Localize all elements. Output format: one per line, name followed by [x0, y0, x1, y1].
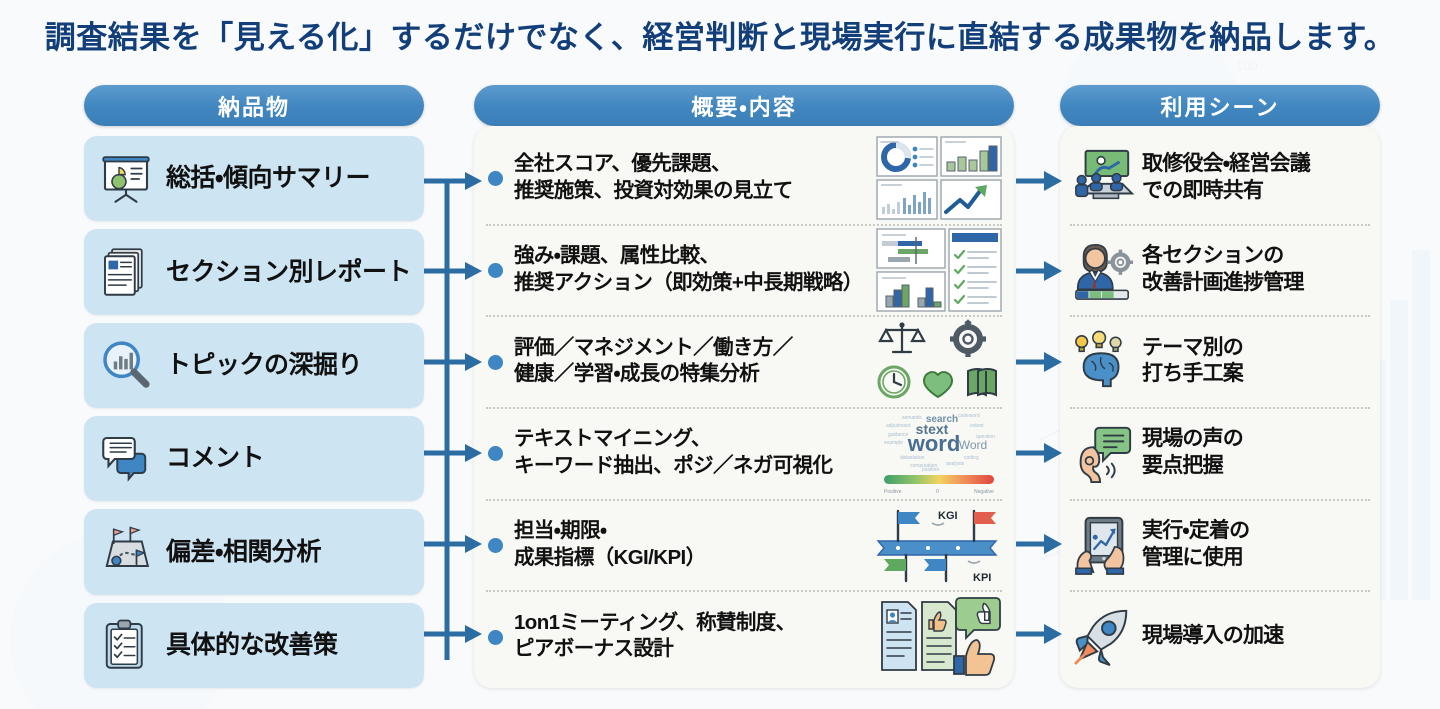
deliverable-card-comment[interactable]: コメント — [84, 416, 424, 501]
svg-text:guidance: guidance — [888, 432, 909, 438]
usecase-text: 現場の声の 要点把握 — [1142, 426, 1243, 479]
deliverable-card-summary[interactable]: 総括・傾向サマリー — [84, 136, 424, 221]
svg-text:coding: coding — [964, 455, 979, 461]
svg-text:dataelation: dataelation — [900, 455, 925, 461]
svg-text:example: example — [884, 440, 903, 446]
overview-line2: キーワード抽出、ポジ／ネガ可視化 — [514, 453, 876, 480]
overview-line1: 担当・期限・ — [514, 518, 876, 545]
overview-line1: 全社スコア、優先課題、 — [514, 151, 876, 178]
usecase-row[interactable]: 取修役会・経営会議 での即時共有 — [1060, 132, 1380, 224]
tablet-hands-icon — [1072, 514, 1134, 576]
overview-line1: テキストマイニング、 — [514, 426, 876, 453]
ear-speech-icon — [1072, 422, 1134, 484]
bullet-icon — [488, 355, 503, 370]
deliverable-label: 総括・傾向サマリー — [166, 164, 370, 193]
overview-line1: 評価／マネジメント／働き方／ — [514, 335, 876, 362]
usecase-text: 現場導入の加速 — [1142, 623, 1283, 649]
overview-line2: 推奨施策、投資対効果の見立て — [514, 178, 876, 205]
svg-text:semantic: semantic — [902, 415, 923, 421]
usecase-line2: 要点把握 — [1142, 453, 1243, 479]
overview-text: 1on1ミーティング、称賛制度、 ピアボーナス設計 — [514, 610, 876, 663]
kpi-label: KPI — [973, 572, 991, 584]
comparison-checklist-icon — [876, 228, 1002, 312]
usecase-line1: 実行・定着の — [1142, 518, 1249, 544]
documents-stack-icon — [98, 244, 154, 300]
clipboard-checklist-icon — [98, 617, 154, 673]
usecase-line1: 現場導入の加速 — [1142, 623, 1283, 649]
svg-text:Positive: Positive — [884, 489, 902, 495]
usecase-line1: 取修役会・経営会議 — [1142, 151, 1310, 177]
deliverable-label: セクション別レポート — [166, 258, 411, 287]
usecase-text: 各セクションの 改善計画進捗管理 — [1142, 243, 1304, 296]
overview-text: 担当・期限・ 成果指標（KGI/KPI） — [514, 518, 876, 571]
overview-text: テキストマイニング、 キーワード抽出、ポジ／ネガ可視化 — [514, 426, 876, 479]
column-header-overview: 概要・内容 — [474, 85, 1014, 126]
column-header-usecase: 利用シーン — [1060, 85, 1380, 126]
deliverable-card-section-report[interactable]: セクション別レポート — [84, 229, 424, 314]
dashboard-thumbnails-icon — [876, 136, 1002, 220]
usecase-text: 取修役会・経営会議 での即時共有 — [1142, 151, 1310, 204]
overview-text: 全社スコア、優先課題、 推奨施策、投資対効果の見立て — [514, 151, 876, 204]
usecase-row[interactable]: 現場の声の 要点把握 — [1060, 407, 1380, 499]
usecase-row[interactable]: 各セクションの 改善計画進捗管理 — [1060, 224, 1380, 316]
bullet-icon — [488, 171, 503, 186]
bullet-icon — [488, 630, 503, 645]
map-flags-icon — [98, 524, 154, 580]
overview-row[interactable]: 評価／マネジメント／働き方／ 健康／学習・成長の特集分析 — [474, 315, 1014, 407]
usecase-line2: 管理に使用 — [1142, 545, 1249, 571]
svg-text:extent: extent — [970, 423, 984, 429]
usecase-line1: 現場の声の — [1142, 426, 1243, 452]
bullet-icon — [488, 538, 503, 553]
usecase-column: 取修役会・経営会議 での即時共有 — [1060, 126, 1380, 688]
usecase-line1: 各セクションの — [1142, 243, 1304, 269]
deliverable-card-topic-deepdive[interactable]: トピックの深掘り — [84, 323, 424, 408]
word-cloud-sentiment-icon: word stext search Word adjustmentguidanc… — [876, 411, 1002, 495]
magnifier-bar-chart-icon — [98, 337, 154, 393]
speech-bubbles-icon — [98, 431, 154, 487]
scales-gear-clock-heart-book-icon — [876, 319, 1002, 403]
usecase-row[interactable]: 現場導入の加速 — [1060, 590, 1380, 682]
overview-row[interactable]: 担当・期限・ 成果指標（KGI/KPI） KGI KPI — [474, 499, 1014, 591]
overview-row[interactable]: 全社スコア、優先課題、 推奨施策、投資対効果の見立て — [474, 132, 1014, 224]
column-header-deliverables: 納品物 — [84, 85, 424, 126]
kgi-kpi-milestone-icon: KGI KPI — [876, 503, 1002, 587]
overview-row[interactable]: 1on1ミーティング、称賛制度、 ピアボーナス設計 — [474, 590, 1014, 682]
svg-text:position: position — [922, 467, 939, 473]
svg-text:adjustment: adjustment — [886, 423, 911, 429]
usecase-text: テーマ別の 打ち手工案 — [1142, 335, 1243, 388]
svg-text:codeword: codeword — [958, 413, 980, 419]
wordcloud-word-third: search — [926, 414, 958, 425]
meeting-room-icon — [1072, 147, 1134, 209]
rocket-icon — [1072, 605, 1134, 667]
overview-line2: 健康／学習・成長の特集分析 — [514, 361, 876, 388]
person-gear-progress-icon — [1072, 239, 1134, 301]
overview-line2: ピアボーナス設計 — [514, 636, 876, 663]
overview-text: 強み・課題、属性比較、 推奨アクション（即効策+中長期戦略） — [514, 243, 876, 296]
usecase-line2: での即時共有 — [1142, 178, 1310, 204]
svg-text:analysis: analysis — [946, 461, 965, 467]
overview-row[interactable]: テキストマイニング、 キーワード抽出、ポジ／ネガ可視化 word stext s… — [474, 407, 1014, 499]
deliverable-label: 具体的な改善策 — [166, 631, 338, 660]
overview-line2: 成果指標（KGI/KPI） — [514, 545, 876, 572]
deliverable-label: トピックの深掘り — [166, 351, 362, 380]
usecase-line2: 改善計画進捗管理 — [1142, 270, 1304, 296]
kgi-label: KGI — [938, 510, 958, 522]
deliverables-column: 総括・傾向サマリー セクション別レポート — [84, 136, 424, 688]
deliverable-card-deviation-correlation[interactable]: 偏差・相関分析 — [84, 509, 424, 594]
usecase-line1: テーマ別の — [1142, 335, 1243, 361]
wordcloud-word-fourth: Word — [959, 438, 987, 452]
overview-row[interactable]: 強み・課題、属性比較、 推奨アクション（即効策+中長期戦略） — [474, 224, 1014, 316]
usecase-line2: 打ち手工案 — [1142, 361, 1243, 387]
bullet-icon — [488, 446, 503, 461]
deliverable-label: 偏差・相関分析 — [166, 538, 321, 567]
page-title: 調査結果を「見える化」するだけでなく、経営判断と現場実行に直結する成果物を納品し… — [0, 12, 1440, 57]
usecase-row[interactable]: テーマ別の 打ち手工案 — [1060, 315, 1380, 407]
deliverable-card-improvement-plan[interactable]: 具体的な改善策 — [84, 603, 424, 688]
brain-bulbs-icon — [1072, 330, 1134, 392]
svg-text:Negative: Negative — [974, 489, 994, 495]
bullet-icon — [488, 263, 503, 278]
usecase-text: 実行・定着の 管理に使用 — [1142, 518, 1249, 571]
svg-text:0: 0 — [936, 489, 939, 495]
usecase-row[interactable]: 実行・定着の 管理に使用 — [1060, 499, 1380, 591]
overview-line1: 1on1ミーティング、称賛制度、 — [514, 610, 876, 637]
overview-line1: 強み・課題、属性比較、 — [514, 243, 876, 270]
deliverable-label: コメント — [166, 444, 264, 473]
overview-text: 評価／マネジメント／働き方／ 健康／学習・成長の特集分析 — [514, 335, 876, 388]
overview-line2: 推奨アクション（即効策+中長期戦略） — [514, 270, 876, 297]
overview-column: 全社スコア、優先課題、 推奨施策、投資対効果の見立て — [474, 126, 1014, 688]
praise-documents-thumbsup-icon — [876, 594, 1002, 678]
presentation-chart-icon — [98, 151, 154, 207]
svg-text:question: question — [976, 434, 995, 440]
